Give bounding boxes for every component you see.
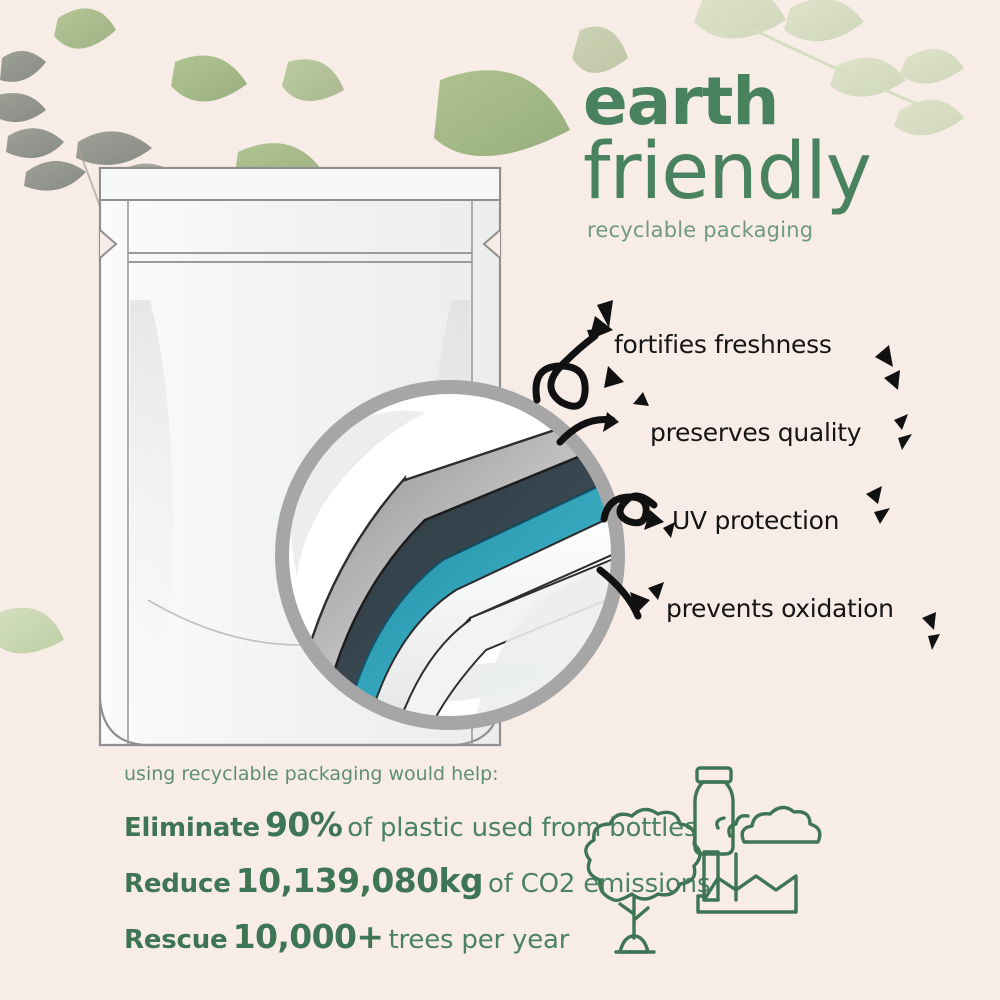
- stat-icons: [0, 0, 1000, 1000]
- poster-canvas: earth friendly recyclable packaging fort…: [0, 0, 1000, 1000]
- tree-icon: [586, 809, 700, 952]
- factory-icon: [698, 807, 820, 912]
- bottle-icon: [695, 768, 733, 854]
